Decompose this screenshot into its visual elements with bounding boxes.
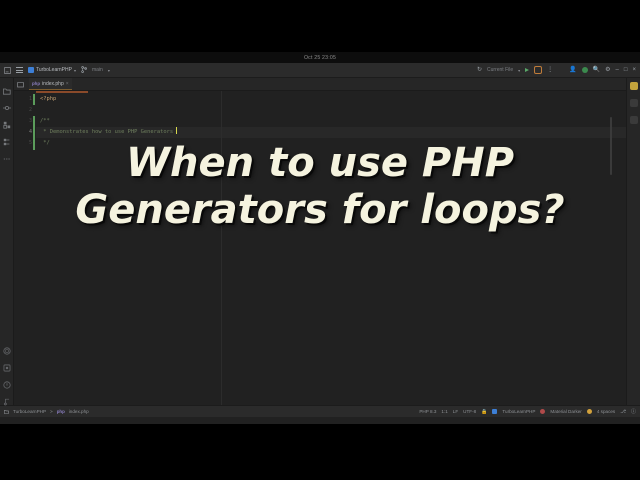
- code-text: <?php: [40, 96, 56, 102]
- version-control-icon[interactable]: [3, 393, 11, 401]
- editor-tab-bar: php index.php ×: [14, 78, 626, 91]
- php-file-icon: php: [57, 409, 65, 414]
- editor-tab-index-php[interactable]: php index.php ×: [29, 78, 72, 90]
- video-frame: Oct 25 23:05 TurboLearnPHP ▾ main ▾: [0, 0, 640, 480]
- letterbox-top: [0, 0, 640, 52]
- open-files-icon[interactable]: [17, 81, 24, 88]
- code-line: */: [36, 138, 626, 149]
- status-bar: TurboLearnPHP > php index.php PHP 8.3 1:…: [0, 405, 640, 417]
- caret-position-widget[interactable]: 1:1: [441, 409, 447, 414]
- line-separator-widget[interactable]: LF: [453, 409, 458, 414]
- settings-gear-icon[interactable]: ⚙: [605, 67, 610, 73]
- refresh-icon[interactable]: ↻: [477, 67, 482, 73]
- maximize-button[interactable]: □: [624, 67, 628, 73]
- project-badge-icon: [492, 409, 497, 414]
- theme-widget[interactable]: Material Darker: [550, 409, 581, 414]
- os-title-bar: Oct 25 23:05: [0, 52, 640, 63]
- notification-bell-icon[interactable]: ⓘ: [631, 409, 636, 415]
- commit-icon[interactable]: [3, 99, 11, 107]
- phpstorm-window: Oct 25 23:05 TurboLearnPHP ▾ main ▾: [0, 52, 640, 424]
- code-line: <?php: [36, 94, 626, 105]
- branch-chevron-icon: ▾: [108, 68, 110, 73]
- structure-icon[interactable]: [3, 133, 11, 141]
- notifications-icon[interactable]: [630, 82, 638, 90]
- breadcrumb-project[interactable]: TurboLearnPHP: [13, 409, 46, 414]
- right-tool-strip: [626, 78, 640, 405]
- tab-label: index.php: [42, 81, 64, 87]
- database-icon[interactable]: [630, 99, 638, 107]
- problems-icon[interactable]: [3, 376, 11, 384]
- search-icon[interactable]: 🔍: [593, 67, 600, 73]
- editor-column: php index.php × 1 2 3 4 5: [14, 78, 626, 405]
- git-branch-icon: [81, 66, 87, 75]
- more-tools-icon[interactable]: [3, 150, 11, 158]
- php-file-icon: php: [32, 81, 40, 86]
- change-marker[interactable]: [33, 116, 35, 150]
- code-text: */: [40, 140, 50, 146]
- code-line: /**: [36, 116, 626, 127]
- os-clock: Oct 25 23:05: [304, 55, 336, 61]
- main-toolbar: TurboLearnPHP ▾ main ▾ ↻ Current File ▾ …: [0, 63, 640, 78]
- services-icon[interactable]: [3, 359, 11, 367]
- code-text: /**: [40, 118, 50, 124]
- more-actions-icon[interactable]: ⋮: [547, 67, 553, 73]
- run-play-icon[interactable]: [525, 68, 529, 72]
- breadcrumb-separator: >: [50, 409, 53, 414]
- account-icon[interactable]: 👤: [569, 67, 576, 73]
- right-margin-line: [221, 91, 222, 405]
- project-widget[interactable]: TurboLearnPHP ▾: [28, 67, 76, 73]
- chevron-down-icon: ▾: [74, 68, 76, 73]
- project-indicator[interactable]: TurboLearnPHP: [502, 409, 535, 414]
- debug-bug-icon[interactable]: [534, 66, 542, 74]
- run-configuration-selector[interactable]: Current File: [487, 67, 513, 73]
- code-content[interactable]: <?php /** * Demonstrates how to use PHP …: [36, 91, 626, 405]
- theme-dot-icon: [540, 409, 545, 414]
- project-badge-icon: [28, 67, 34, 73]
- encoding-widget[interactable]: UTF-8: [463, 409, 476, 414]
- terminal-icon[interactable]: [3, 342, 11, 350]
- php-version-widget[interactable]: PHP 8.3: [419, 409, 436, 414]
- run-config-chevron-icon: ▾: [518, 68, 520, 73]
- code-editor[interactable]: 1 2 3 4 5 <?php /** * Demonstrates how t…: [14, 91, 626, 405]
- git-branch-name[interactable]: main: [92, 67, 103, 73]
- code-line: [36, 105, 626, 116]
- project-icon[interactable]: [3, 82, 11, 90]
- app-logo-icon: [4, 67, 11, 74]
- breadcrumb-file[interactable]: index.php: [69, 409, 89, 414]
- updates-indicator-icon[interactable]: [582, 67, 588, 73]
- indent-dot-icon: [587, 409, 592, 414]
- breadcrumb-folder-icon: [4, 409, 9, 414]
- code-text: * Demonstrates how to use PHP Generators: [40, 129, 176, 135]
- git-branch-icon[interactable]: ⎇: [620, 409, 626, 415]
- editor-gutter: 1 2 3 4 5: [14, 91, 36, 405]
- ai-assistant-icon[interactable]: [630, 116, 638, 124]
- left-tool-strip: [0, 78, 14, 405]
- read-only-lock-icon[interactable]: 🔒: [481, 409, 487, 415]
- minimize-button[interactable]: –: [616, 67, 619, 73]
- change-marker[interactable]: [33, 94, 35, 105]
- close-icon[interactable]: ×: [66, 81, 69, 87]
- editor-scrollbar[interactable]: [610, 117, 612, 175]
- indent-widget[interactable]: 4 spaces: [597, 409, 615, 414]
- code-line: * Demonstrates how to use PHP Generators: [36, 127, 626, 138]
- letterbox-bottom: [0, 424, 640, 480]
- line-number: 2: [14, 105, 36, 116]
- plugins-icon[interactable]: [3, 116, 11, 124]
- ide-body: php index.php × 1 2 3 4 5: [0, 78, 640, 405]
- project-name: TurboLearnPHP: [36, 67, 72, 73]
- text-caret: [176, 127, 177, 134]
- main-menu-icon[interactable]: [16, 67, 23, 73]
- close-button[interactable]: ×: [632, 67, 636, 73]
